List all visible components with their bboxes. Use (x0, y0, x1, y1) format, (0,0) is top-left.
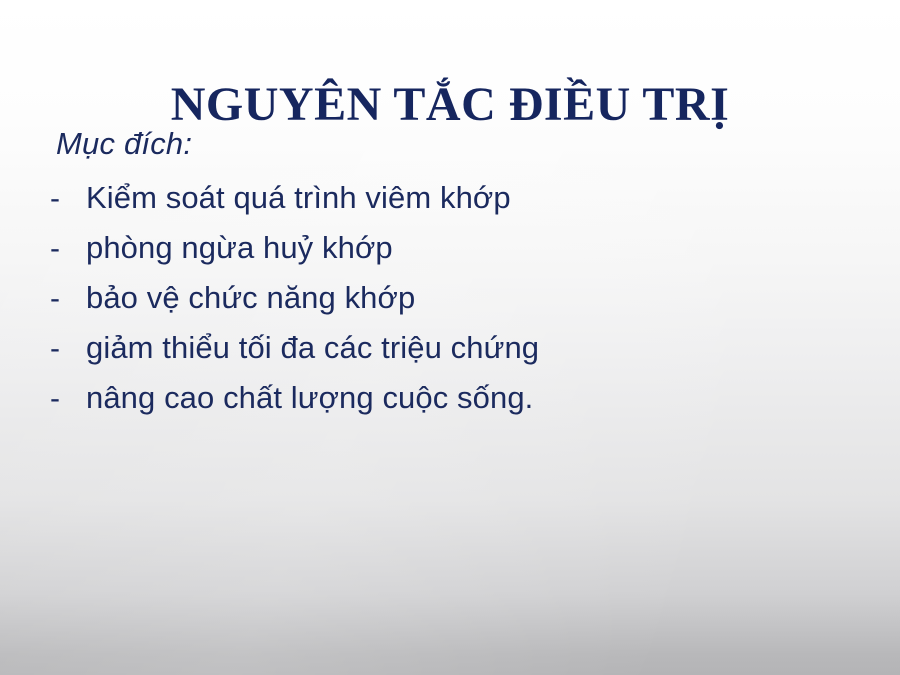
list-item: - giảm thiểu tối đa các triệu chứng (50, 323, 850, 373)
slide-canvas: NGUYÊN TẮC ĐIỀU TRỊ Mục đích: - Kiểm soá… (0, 0, 900, 675)
slide-body: Mục đích: - Kiểm soát quá trình viêm khớ… (50, 128, 850, 423)
bullet-dash-icon: - (50, 374, 86, 424)
list-item-label: bảo vệ chức năng khớp (86, 273, 415, 323)
bullet-dash-icon: - (50, 224, 86, 274)
list-item: - bảo vệ chức năng khớp (50, 273, 850, 323)
list-item-label: phòng ngừa huỷ khớp (86, 223, 393, 273)
list-item-label: Kiểm soát quá trình viêm khớp (86, 173, 511, 223)
objectives-list: - Kiểm soát quá trình viêm khớp - phòng … (50, 173, 850, 423)
list-item: - phòng ngừa huỷ khớp (50, 223, 850, 273)
list-item: - Kiểm soát quá trình viêm khớp (50, 173, 850, 223)
bullet-dash-icon: - (50, 274, 86, 324)
list-item-label: giảm thiểu tối đa các triệu chứng (86, 323, 539, 373)
purpose-label: Mục đích: (56, 128, 850, 159)
bullet-dash-icon: - (50, 174, 86, 224)
list-item: - nâng cao chất lượng cuộc sống. (50, 373, 850, 423)
list-item-label: nâng cao chất lượng cuộc sống. (86, 373, 533, 423)
bullet-dash-icon: - (50, 324, 86, 374)
page-title: NGUYÊN TẮC ĐIỀU TRỊ (0, 79, 900, 131)
